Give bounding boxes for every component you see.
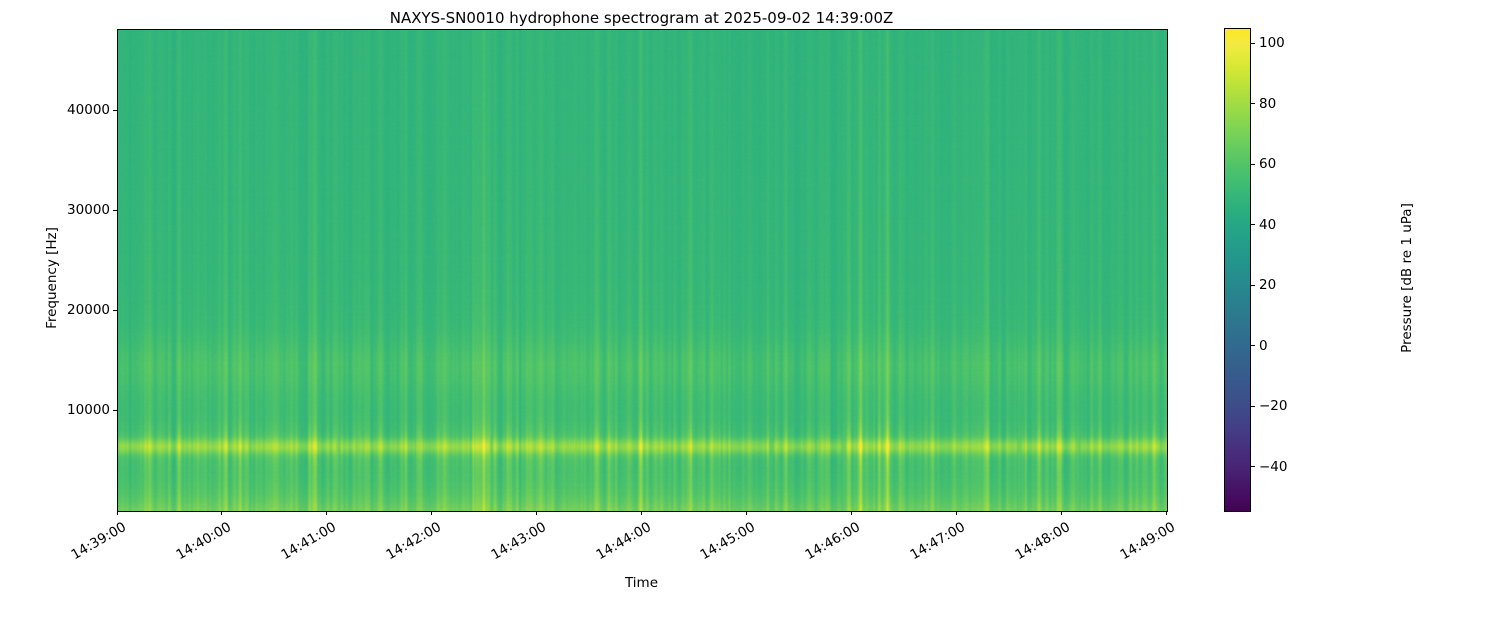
y-tick-label: 20000 bbox=[67, 302, 110, 318]
colorbar-tick-label: −40 bbox=[1259, 459, 1288, 475]
x-tick-mark bbox=[1166, 511, 1167, 515]
y-tick-mark bbox=[113, 310, 117, 311]
colorbar-label: Pressure [dB re 1 uPa] bbox=[1399, 163, 1415, 393]
colorbar-tick-mark bbox=[1251, 224, 1255, 225]
y-tick-label: 40000 bbox=[67, 102, 110, 118]
spectrogram-image bbox=[118, 30, 1167, 511]
x-tick-mark bbox=[431, 511, 432, 515]
spectrogram-plot-area[interactable] bbox=[117, 29, 1168, 512]
colorbar-tick-mark bbox=[1251, 406, 1255, 407]
x-tick-mark bbox=[851, 511, 852, 515]
colorbar-tick-label: 100 bbox=[1259, 35, 1285, 51]
colorbar-tick-mark bbox=[1251, 103, 1255, 104]
x-tick-mark bbox=[326, 511, 327, 515]
colorbar-gradient bbox=[1225, 29, 1250, 511]
x-tick-mark bbox=[746, 511, 747, 515]
colorbar-tick-mark bbox=[1251, 43, 1255, 44]
x-tick-mark bbox=[117, 511, 118, 515]
colorbar-tick-label: 80 bbox=[1259, 96, 1276, 112]
page-title: NAXYS-SN0010 hydrophone spectrogram at 2… bbox=[0, 9, 1283, 27]
colorbar-tick-mark bbox=[1251, 466, 1255, 467]
colorbar-tick-label: −20 bbox=[1259, 398, 1288, 414]
colorbar-tick-mark bbox=[1251, 285, 1255, 286]
y-tick-mark bbox=[113, 410, 117, 411]
y-axis-label: Frequency [Hz] bbox=[44, 198, 60, 358]
colorbar-tick-label: 60 bbox=[1259, 156, 1276, 172]
colorbar-tick-label: 20 bbox=[1259, 277, 1276, 293]
colorbar-tick-mark bbox=[1251, 345, 1255, 346]
colorbar bbox=[1224, 28, 1251, 512]
x-tick-mark bbox=[221, 511, 222, 515]
y-tick-label: 10000 bbox=[67, 402, 110, 418]
y-tick-mark bbox=[113, 110, 117, 111]
x-tick-mark bbox=[641, 511, 642, 515]
y-tick-label: 30000 bbox=[67, 202, 110, 218]
x-tick-mark bbox=[956, 511, 957, 515]
y-tick-mark bbox=[113, 210, 117, 211]
spectrogram-figure: NAXYS-SN0010 hydrophone spectrogram at 2… bbox=[0, 0, 1500, 600]
colorbar-tick-label: 0 bbox=[1259, 338, 1268, 354]
colorbar-tick-mark bbox=[1251, 164, 1255, 165]
x-tick-mark bbox=[536, 511, 537, 515]
colorbar-tick-label: 40 bbox=[1259, 217, 1276, 233]
x-tick-mark bbox=[1061, 511, 1062, 515]
